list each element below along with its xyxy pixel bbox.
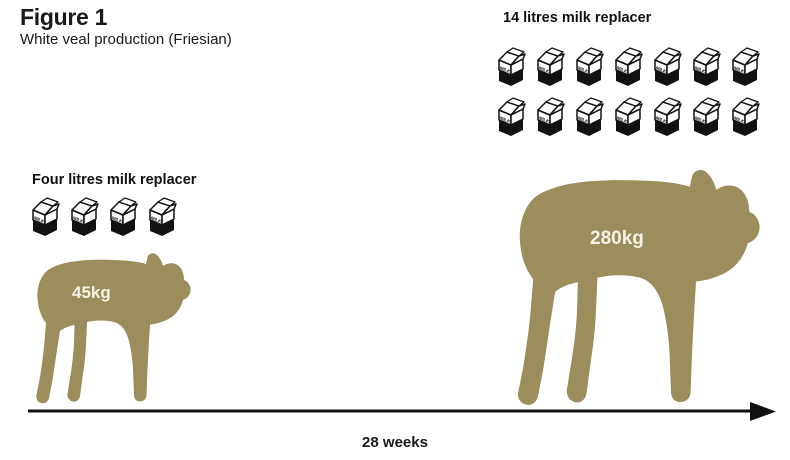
milk-carton-icon-right-9: MILK <box>535 96 566 136</box>
milk-carton-icon-right-2: MILK <box>535 46 566 86</box>
timeline-arrow <box>28 400 776 424</box>
milk-carton-icon-right-14: MILK <box>730 96 761 136</box>
milk-carton-icon-right-11: MILK <box>613 96 644 136</box>
left-feed-label: Four litres milk replacer <box>32 172 196 188</box>
milk-carton-icon-right-6: MILK <box>691 46 722 86</box>
timeline-label: 28 weeks <box>0 434 790 451</box>
figure-subtitle: White veal production (Friesian) <box>20 31 232 48</box>
milk-carton-icon-right-13: MILK <box>691 96 722 136</box>
figure-title: Figure 1 <box>20 4 107 31</box>
figure-infographic: Figure 1 White veal production (Friesian… <box>0 0 790 460</box>
milk-carton-icon-right-8: MILK <box>496 96 527 136</box>
milk-carton-icon-right-3: MILK <box>574 46 605 86</box>
milk-carton-icon-right-7: MILK <box>730 46 761 86</box>
milk-carton-icon-right-4: MILK <box>613 46 644 86</box>
calf-silhouette-large <box>494 168 776 406</box>
milk-carton-icon-right-1: MILK <box>496 46 527 86</box>
left-carton-group: MILKMILKMILKMILK <box>30 196 190 246</box>
milk-carton-icon-left-2: MILK <box>69 196 100 236</box>
milk-carton-icon-left-1: MILK <box>30 196 61 236</box>
milk-carton-icon-left-3: MILK <box>108 196 139 236</box>
right-carton-group: MILKMILKMILKMILKMILKMILKMILKMILKMILKMILK… <box>496 46 776 146</box>
milk-carton-icon-right-5: MILK <box>652 46 683 86</box>
right-feed-label: 14 litres milk replacer <box>503 10 651 26</box>
milk-carton-icon-right-10: MILK <box>574 96 605 136</box>
calf-silhouette-small <box>26 252 196 404</box>
milk-carton-icon-right-12: MILK <box>652 96 683 136</box>
milk-carton-icon-left-4: MILK <box>147 196 178 236</box>
